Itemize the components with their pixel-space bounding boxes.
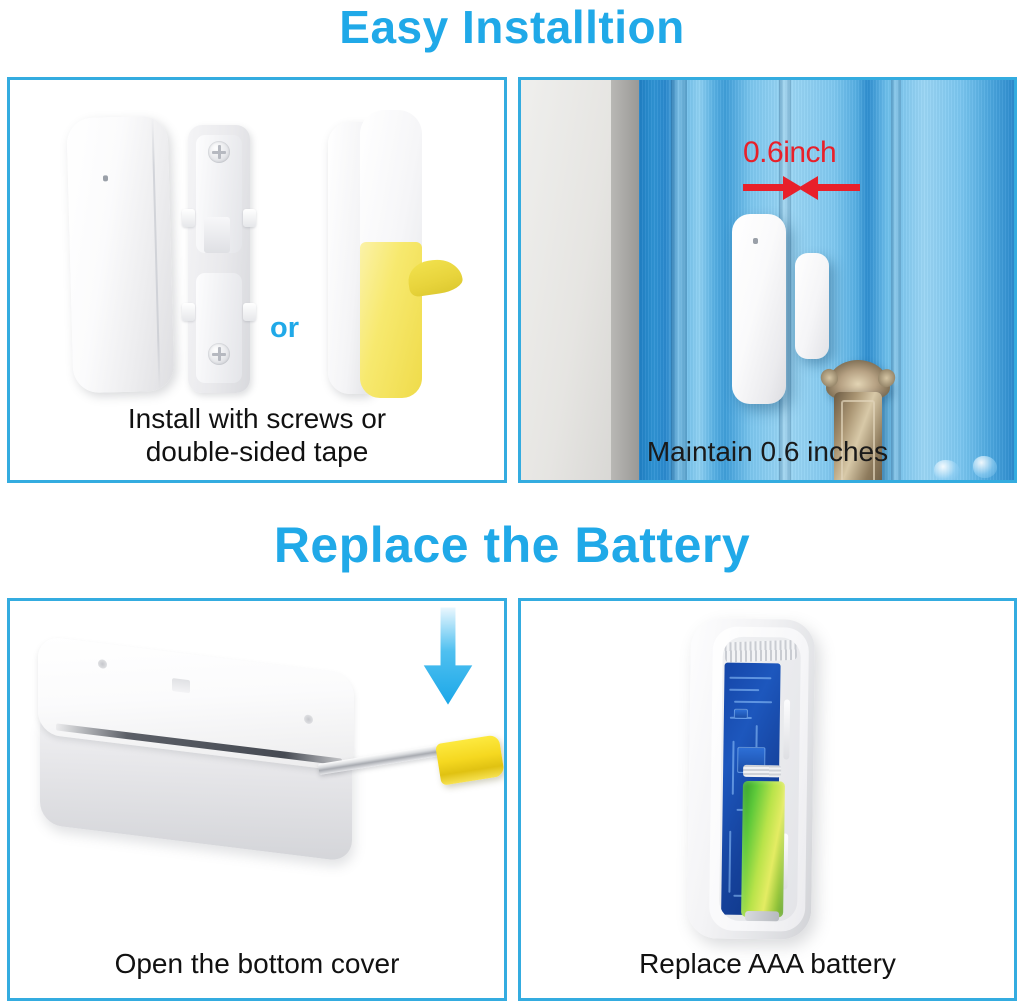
screw-icon: [208, 343, 230, 365]
wall-frame: [521, 80, 611, 480]
section-title-installation: Easy Installtion: [0, 0, 1024, 56]
panel-caption: Open the bottom cover: [10, 947, 504, 980]
arrow-left-head-icon: [798, 176, 818, 200]
led-indicator-icon: [753, 238, 758, 244]
open-sensor-icon: [687, 618, 815, 940]
battery-terminal-icon: [745, 911, 779, 921]
bracket-notch: [204, 217, 230, 253]
mounted-door-sensor-icon: [732, 214, 786, 404]
bracket-tab: [243, 209, 256, 227]
screw-hole-icon: [98, 659, 107, 669]
bracket-tab: [243, 303, 256, 321]
screwdriver-handle-icon: [435, 734, 505, 785]
open-cover-illustration: [10, 601, 504, 998]
panel-caption: Replace AAA battery: [521, 947, 1014, 980]
screw-hole-icon: [304, 714, 313, 724]
connector-label: or: [270, 312, 299, 345]
wall-shadow: [611, 80, 639, 480]
panel-caption: Maintain 0.6 inches: [521, 435, 1014, 468]
antenna-coil-icon: [724, 640, 797, 663]
bracket-plate: [196, 273, 242, 383]
cover-slot-icon: [172, 678, 190, 693]
section-title-battery: Replace the Battery: [0, 514, 1024, 576]
battery-illustration: [521, 601, 1014, 998]
arrow-down-icon: [420, 605, 476, 709]
panel-gap-photo: 0.6inch Maintain 0.6 inches: [518, 77, 1017, 483]
battery-cavity: [719, 637, 801, 922]
mounted-magnet-icon: [795, 253, 829, 359]
screw-icon: [208, 141, 230, 163]
arrow-left-icon: [818, 184, 860, 191]
aaa-battery-icon: [741, 781, 785, 918]
bracket-tab: [182, 209, 195, 227]
battery-spring-icon: [743, 765, 781, 778]
infographic-page: Easy Installtion or: [0, 0, 1024, 1008]
door-edge: [671, 80, 687, 480]
panel-replace-battery: Replace AAA battery: [518, 598, 1017, 1001]
battery-rail: [783, 699, 790, 759]
adhesive-tape-icon: [360, 242, 422, 398]
bracket-tab: [182, 303, 195, 321]
door-photo: 0.6inch Maintain 0.6 inches: [521, 80, 1014, 480]
mounting-bracket-icon: [188, 125, 250, 393]
arrow-right-icon: [743, 184, 785, 191]
led-indicator-icon: [103, 175, 108, 181]
panel-caption: Install with screws or double-sided tape: [10, 402, 504, 468]
door-sensor-icon: [66, 116, 174, 394]
dimension-label: 0.6inch: [743, 136, 836, 170]
panel-install-methods: or Install with screws or double-sided t…: [7, 77, 507, 483]
panel-open-cover: Open the bottom cover: [7, 598, 507, 1001]
door-edge: [891, 80, 901, 480]
